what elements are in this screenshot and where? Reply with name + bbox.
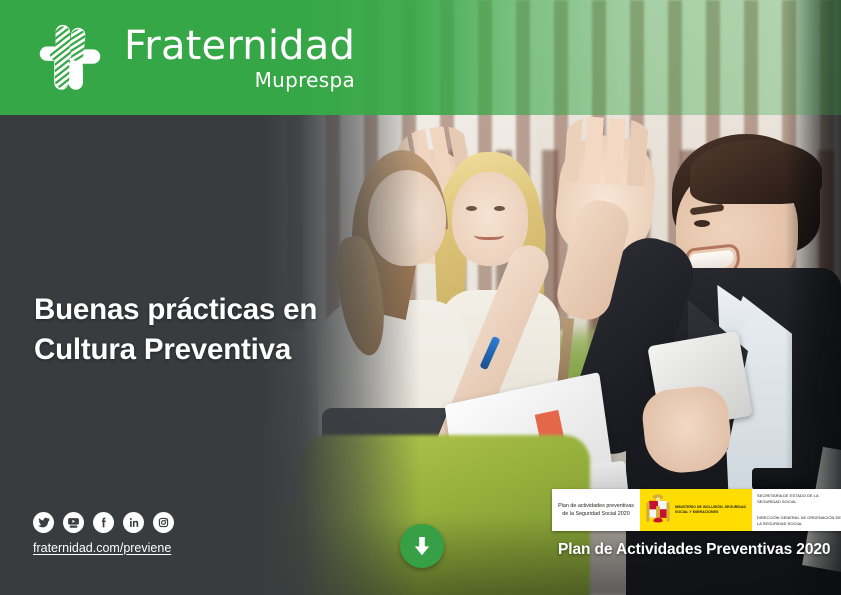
- badge-ministry-block: MINISTERIO DE INCLUSIÓN, SEGURIDAD SOCIA…: [640, 489, 752, 531]
- brand-subname: Muprespa: [124, 70, 355, 90]
- facebook-icon[interactable]: [93, 512, 114, 533]
- youtube-icon[interactable]: [63, 512, 84, 533]
- instagram-icon[interactable]: [153, 512, 174, 533]
- poster-cover: Fraternidad Muprespa Buenas prácticas en…: [0, 0, 841, 595]
- photo-woman-b-eye-right: [494, 206, 505, 211]
- photo-woman-b-smile: [474, 228, 504, 240]
- government-badge: Plan de actividades preventivas de la Se…: [552, 489, 841, 531]
- social-links: [33, 512, 174, 533]
- headline-line-2: Cultura Preventiva: [34, 330, 394, 370]
- download-button[interactable]: [400, 524, 444, 568]
- fraternidad-clover-logo-icon: [34, 22, 106, 94]
- photo-woman-b-eye-left: [466, 206, 477, 211]
- plan-title: Plan de Actividades Preventivas 2020: [558, 541, 830, 559]
- brand-name: Fraternidad: [124, 26, 355, 66]
- badge-plan-text: Plan de actividades preventivas de la Se…: [552, 489, 640, 531]
- brand-logo-text: Fraternidad Muprespa: [124, 26, 355, 90]
- badge-secretary-text: SECRETARÍA DE ESTADO DE LA SEGURIDAD SOC…: [757, 493, 841, 505]
- brand-logo[interactable]: Fraternidad Muprespa: [0, 22, 355, 94]
- brand-header: Fraternidad Muprespa: [0, 0, 841, 115]
- spain-coat-of-arms-icon: [645, 493, 671, 527]
- badge-direction-text: DIRECCIÓN GENERAL DE ORDENACIÓN DE LA SE…: [757, 515, 841, 527]
- twitter-icon[interactable]: [33, 512, 54, 533]
- page-title: Buenas prácticas en Cultura Preventiva: [34, 290, 394, 370]
- download-arrow-down-icon: [412, 535, 432, 557]
- photo-man-eye: [694, 220, 710, 227]
- linkedin-icon[interactable]: [123, 512, 144, 533]
- website-url[interactable]: fraternidad.com/previene: [33, 541, 171, 555]
- headline-line-1: Buenas prácticas en: [34, 290, 394, 330]
- badge-ministry-text: MINISTERIO DE INCLUSIÓN, SEGURIDAD SOCIA…: [675, 505, 747, 516]
- badge-secretary-block: SECRETARÍA DE ESTADO DE LA SEGURIDAD SOC…: [752, 489, 841, 531]
- photo-man-fingers: [560, 115, 656, 187]
